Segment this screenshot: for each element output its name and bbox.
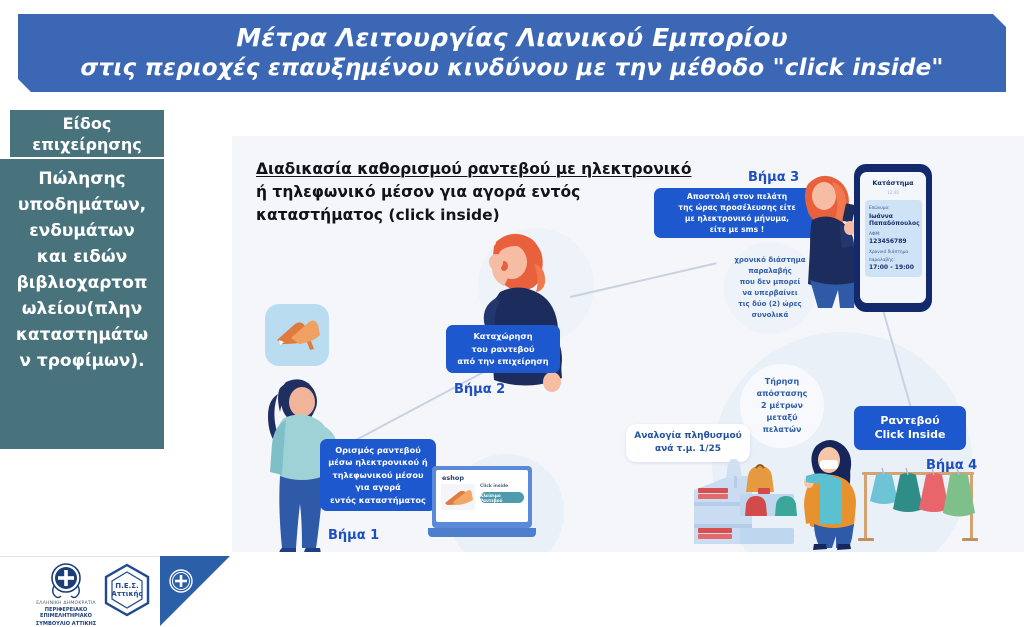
phone-surname-label: Επώνυμο:	[869, 205, 918, 213]
distance-note-line-2: 2 μέτρων	[757, 400, 808, 412]
laptop-click-inside-caption: Click inside	[480, 484, 508, 489]
phone-message-bubble: Επώνυμο: Ιωάννα Παπαδόπουλος ΑΦΜ: 123456…	[865, 200, 922, 277]
shoe-thumbnail-icon	[441, 484, 475, 510]
government-seal-icon	[168, 568, 194, 594]
pes-label: Π.Ε.Σ. Αττικής	[100, 582, 154, 598]
pes-label-line-1: Π.Ε.Σ.	[100, 582, 154, 590]
sidebar-body-line-4: βιβλιοχαρτοπ	[0, 270, 164, 296]
sidebar-body-line-2: ενδυμάτων	[0, 218, 164, 244]
smartphone-mockup: Κατάστημα 12:40 Επώνυμο: Ιωάννα Παπαδόπο…	[854, 164, 932, 312]
page-title-line-2: στις περιοχές επαυξημένου κινδύνου με τη…	[80, 53, 943, 83]
phone-afm-value: 123456789	[869, 238, 918, 246]
phone-shop-title: Κατάστημα	[860, 179, 926, 187]
phone-slot-label-1: Χρονικό διάστημα	[869, 249, 918, 257]
phone-slot-value: 17:00 - 19:00	[869, 264, 918, 272]
step-1-line-0: Ορισμός ραντεβού	[328, 444, 427, 457]
sidebar-header-line-1: Είδος	[63, 113, 112, 134]
distance-note-line-0: Τήρηση	[757, 376, 808, 388]
smartphone-screen: Κατάστημα 12:40 Επώνυμο: Ιωάννα Παπαδόπο…	[860, 172, 926, 303]
page-title-line-1: Μέτρα Λειτουργίας Λιανικού Εμπορίου	[236, 23, 788, 53]
pes-attikis-logo: Π.Ε.Σ. Αττικής	[100, 563, 154, 617]
intro-line-0: Διαδικασία καθορισμού ραντεβού με ηλεκτρ…	[256, 158, 696, 181]
step-1-box[interactable]: Ορισμός ραντεβού μέσω ηλεκτρονικού ή τηλ…	[320, 439, 436, 511]
step-3-line-3: είτε με sms !	[678, 224, 795, 235]
greek-coat-of-arms-icon	[48, 560, 84, 600]
phone-slot-label-2: παραλαβής:	[869, 257, 918, 265]
high-heel-shoe-icon	[265, 304, 329, 366]
pes-label-line-2: Αττικής	[100, 590, 154, 598]
sidebar-header: Είδος επιχείρησης	[10, 110, 164, 159]
step-2-line-2: από την επιχείρηση	[457, 355, 548, 368]
laptop-screen: eshop Click inside Κλείσιμο Ραντεβού	[436, 470, 528, 522]
distance-note-line-3: μεταξύ	[757, 412, 808, 424]
retail-store-scene	[694, 432, 994, 552]
hellenic-republic-logo: ΕΛΛΗΝΙΚΗ ΔΗΜΟΚΡΑΤΙΑ ΠΕΡΙΦΕΡΕΙΑΚΟ ΕΠΙΜΕΛΗ…	[35, 560, 97, 627]
book-appointment-button[interactable]: Κλείσιμο Ραντεβού	[480, 492, 524, 503]
page-title-banner: Μέτρα Λειτουργίας Λιανικού Εμπορίου στις…	[18, 14, 1006, 92]
intro-line-1: ή τηλεφωνικό μέσον για αγορά εντός	[256, 181, 696, 204]
sidebar-header-line-2: επιχείρησης	[32, 134, 141, 155]
sidebar-body-line-6: καταστημάτω	[0, 322, 164, 348]
step-2-label: Βήμα 2	[454, 382, 505, 397]
shoe-app-icon	[265, 304, 329, 366]
distance-note-line-1: απόστασης	[757, 388, 808, 400]
sidebar-body-line-3: και ειδών	[0, 244, 164, 270]
diagram-intro-heading: Διαδικασία καθορισμού ραντεβού με ηλεκτρ…	[256, 158, 696, 227]
step-3-line-0: Αποστολή στον πελάτη	[678, 191, 795, 202]
retail-store-svg	[694, 432, 994, 552]
duration-note-line-5: συνολικά	[734, 310, 805, 321]
step-1-line-3: για αγορά	[328, 481, 427, 494]
step-3-line-2: με ηλεκτρονικό μήνυμα,	[678, 213, 795, 224]
sidebar-body-line-5: ωλείου(πλην	[0, 296, 164, 322]
sidebar-body-line-1: υποδημάτων,	[0, 192, 164, 218]
step-1-line-4: εντός καταστήματος	[328, 494, 427, 507]
footer-caption-line-2: ΠΕΡΙΦΕΡΕΙΑΚΟ ΕΠΙΜΕΛΗΤΗΡΙΑΚΟ	[35, 607, 97, 620]
step-4-line-0: Ραντεβού	[875, 414, 946, 428]
coat-of-arms-svg	[48, 560, 84, 600]
sidebar-body: Πώλησης υποδημάτων, ενδυμάτων και ειδών …	[0, 159, 164, 449]
footer-caption-line-3: ΣΥΜΒΟΥΛΙΟ ΑΤΤΙΚΗΣ	[35, 621, 97, 627]
eshop-brand-label: eshop	[442, 474, 464, 482]
step-3-line-1: της ώρας προσέλευσης είτε	[678, 202, 795, 213]
step-1-line-1: μέσω ηλεκτρονικού ή	[328, 456, 427, 469]
step-2-line-1: του ραντεβού	[457, 343, 548, 356]
phone-surname-value-2: Παπαδόπουλος	[869, 220, 918, 228]
footer-triangle-accent	[160, 556, 230, 626]
step-1-line-2: τηλεφωνικού μέσου	[328, 469, 427, 482]
footer-caption-line-1: ΕΛΛΗΝΙΚΗ ΔΗΜΟΚΡΑΤΙΑ	[35, 601, 97, 606]
business-type-sidebar: Είδος επιχείρησης Πώλησης υποδημάτων, εν…	[0, 110, 164, 360]
process-diagram-panel: Διαδικασία καθορισμού ραντεβού με ηλεκτρ…	[232, 136, 1024, 552]
product-thumbnail	[441, 484, 475, 510]
sidebar-body-line-7: ν τροφίμων).	[0, 348, 164, 374]
phone-timestamp: 12:40	[860, 190, 926, 195]
laptop-illustration: eshop Click inside Κλείσιμο Ραντεβού	[428, 466, 536, 542]
sidebar-body-line-0: Πώλησης	[0, 166, 164, 192]
step-2-box[interactable]: Καταχώρηση του ραντεβού από την επιχείρη…	[446, 325, 560, 373]
government-seal-svg	[168, 568, 194, 594]
laptop-base	[428, 528, 536, 537]
phone-surname-value-1: Ιωάννα	[869, 213, 918, 221]
phone-afm-label: ΑΦΜ:	[869, 231, 918, 239]
step-1-label: Βήμα 1	[328, 528, 379, 543]
laptop-lid: eshop Click inside Κλείσιμο Ραντεβού	[432, 466, 532, 528]
step-2-line-0: Καταχώρηση	[457, 330, 548, 343]
